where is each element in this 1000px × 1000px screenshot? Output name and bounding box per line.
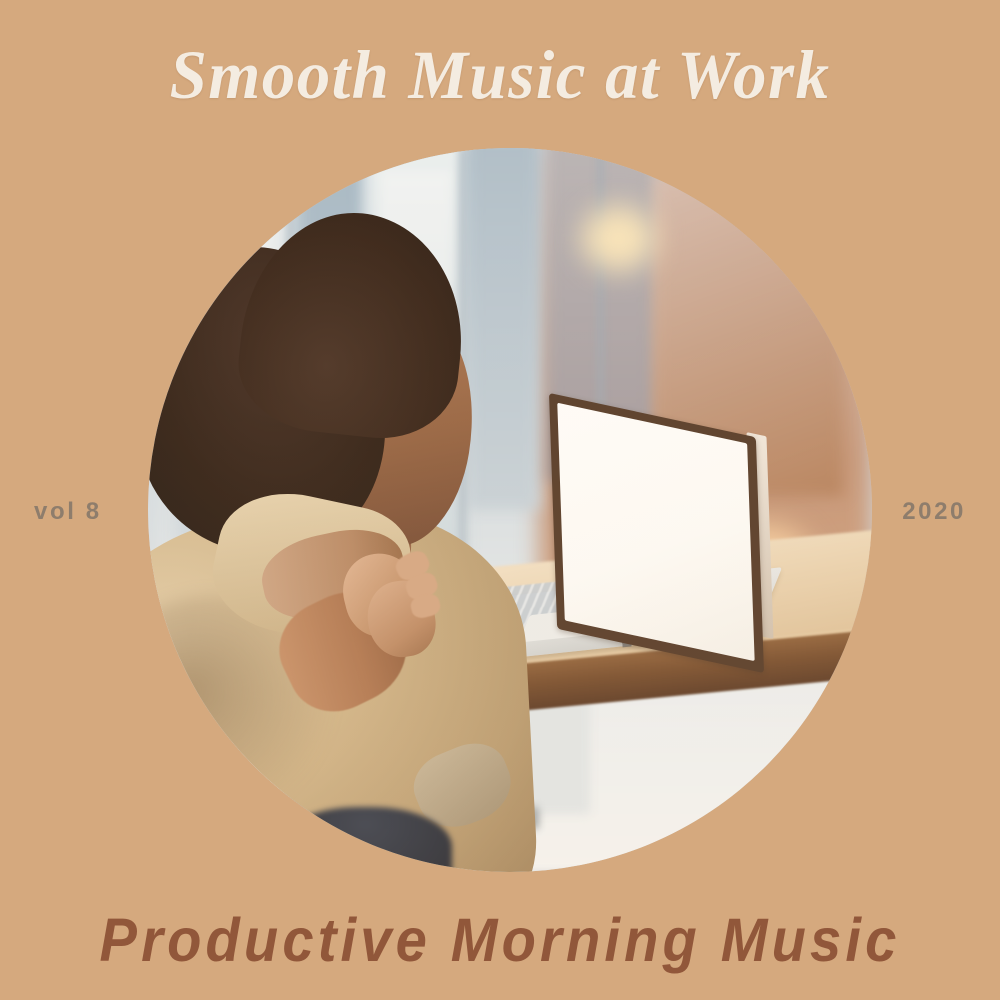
woman-figure	[148, 206, 597, 872]
volume-label: vol 8	[34, 498, 102, 526]
album-cover: Smooth Music at Work vol 8 2020	[0, 0, 1000, 1000]
year-label: 2020	[902, 498, 966, 526]
album-artwork-circle	[148, 148, 872, 872]
album-subtitle: Productive Morning Music	[40, 907, 960, 974]
chair-back	[278, 807, 452, 872]
hair-crown	[232, 202, 474, 446]
page-title: Smooth Music at Work	[15, 38, 985, 113]
artwork-photo	[148, 148, 872, 872]
